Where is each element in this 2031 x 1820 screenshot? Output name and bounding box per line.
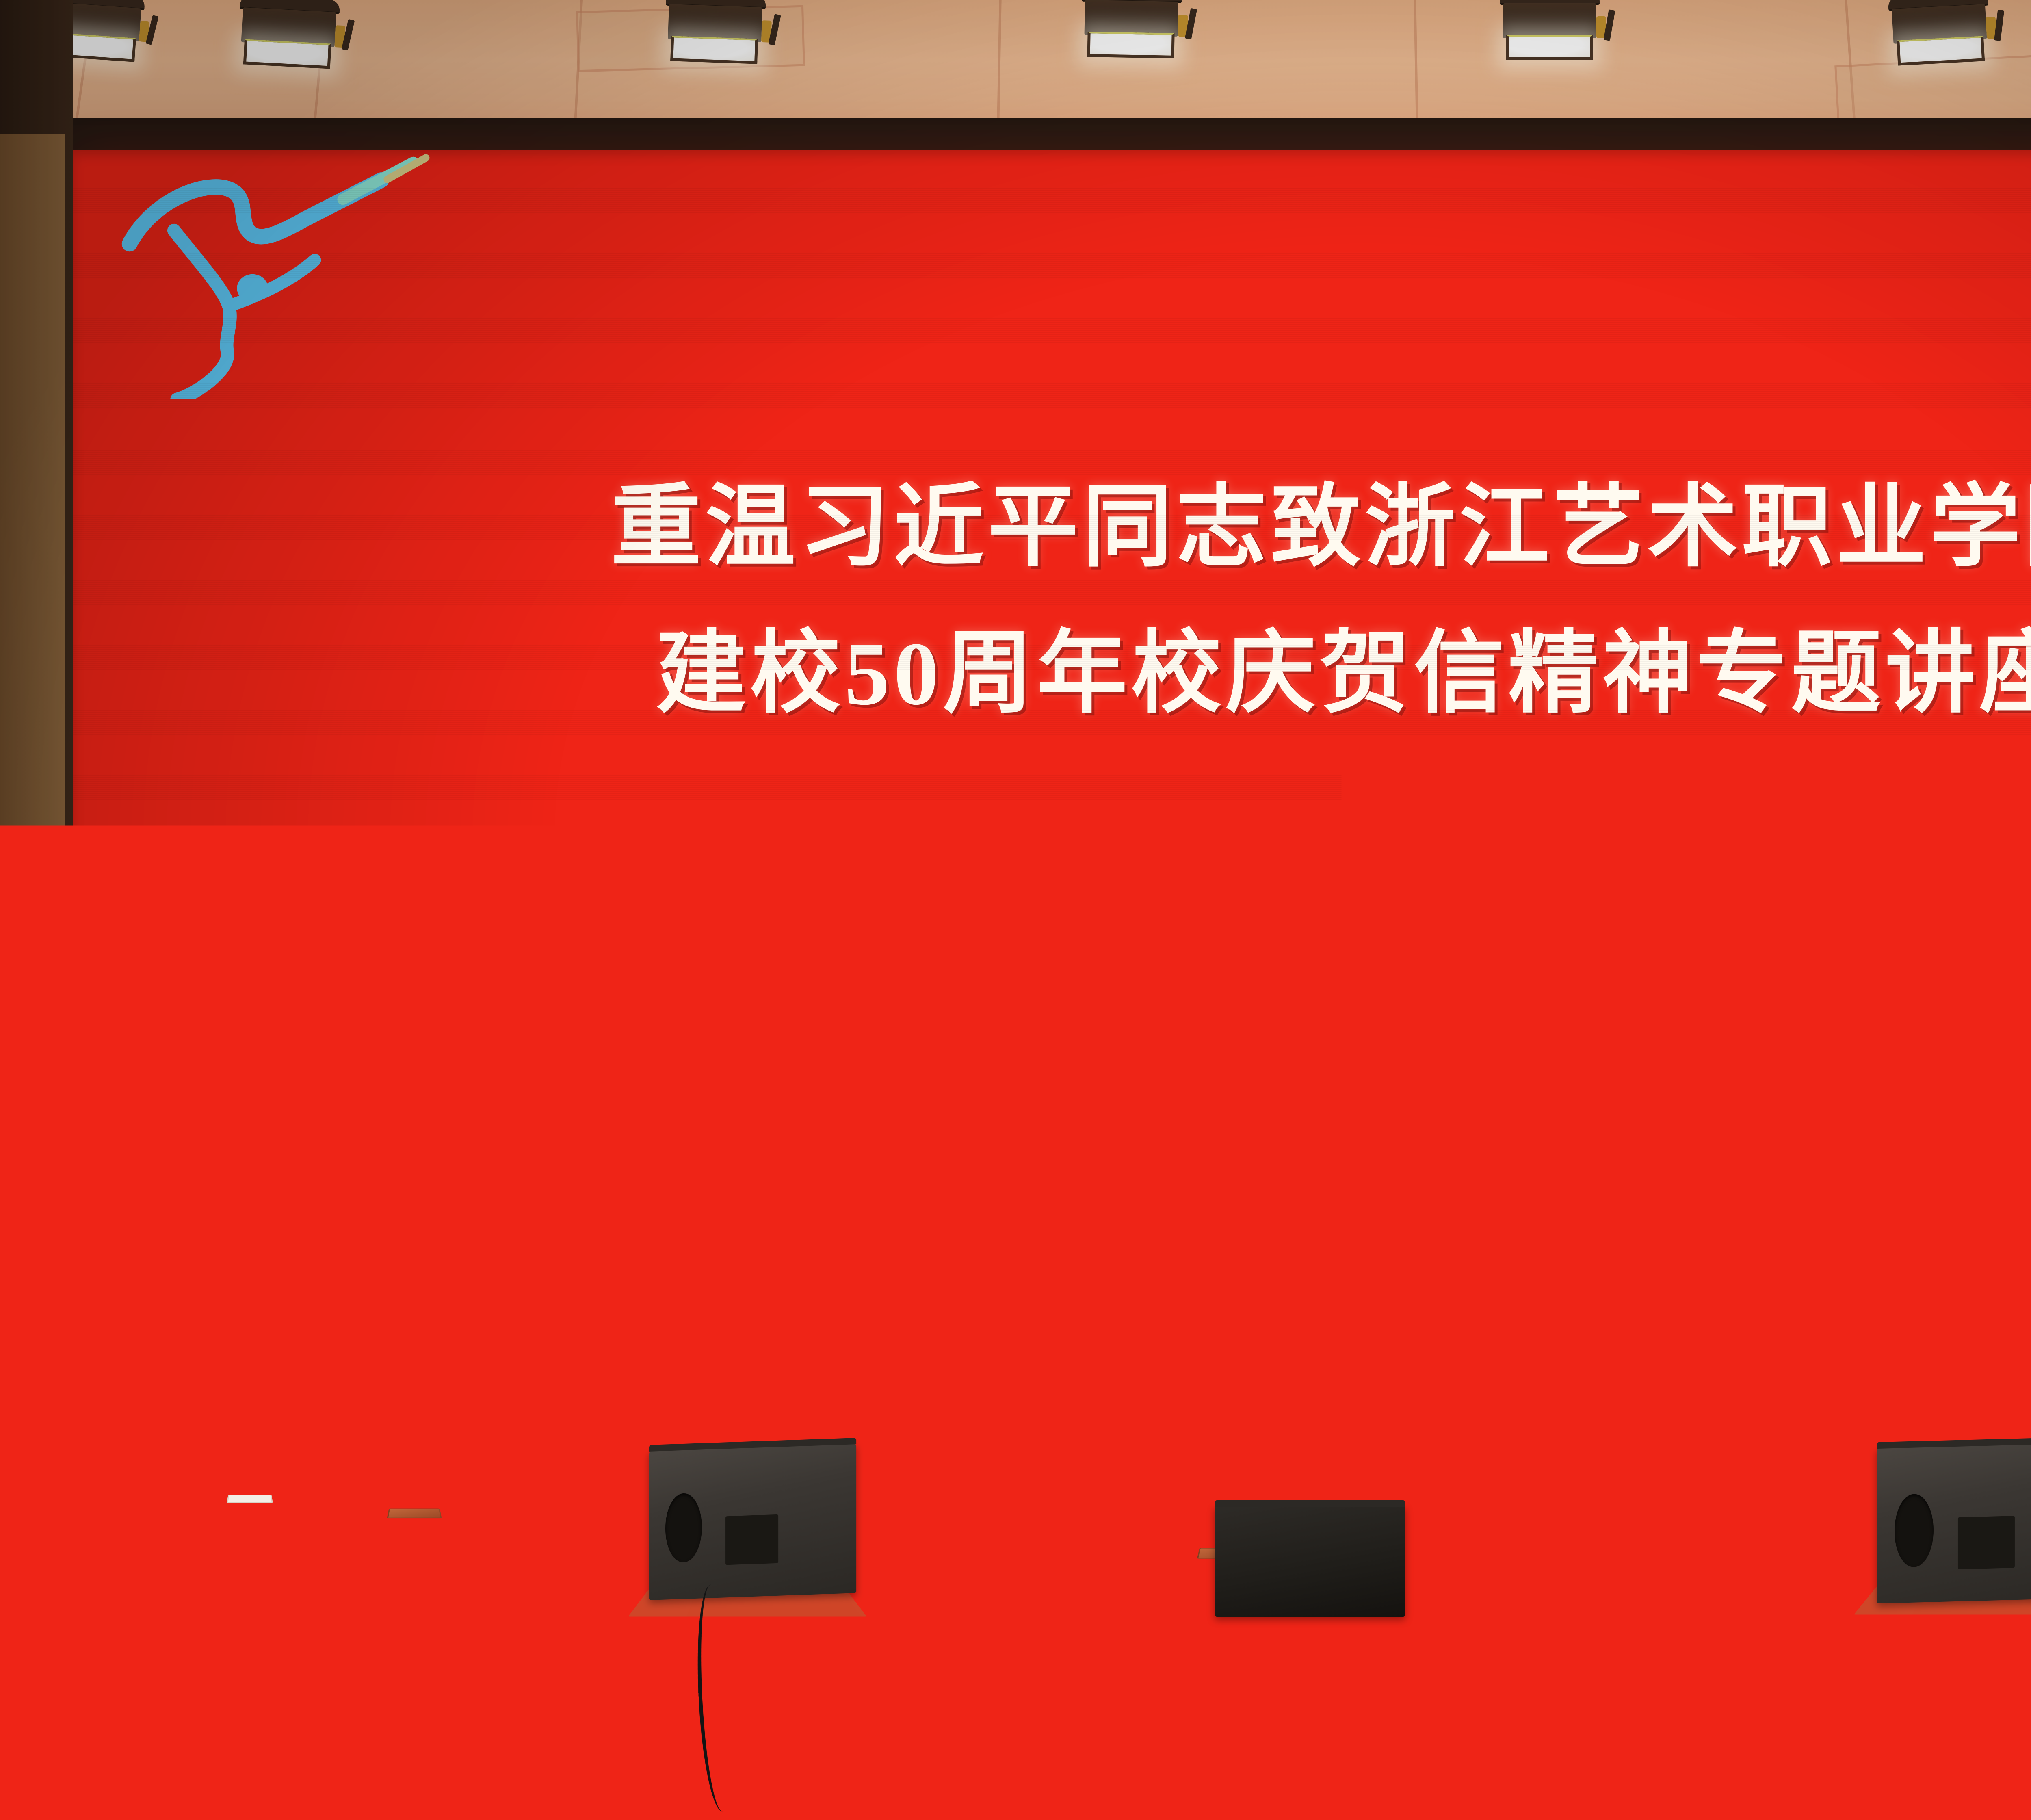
left-wall-column [0,134,65,1353]
floor-monitor-speaker [1215,1505,1405,1617]
stage-spotlight [1887,0,1992,68]
floor-monitor-speaker [1877,1441,2031,1603]
dell-brand-label: DELL [1431,1135,1466,1149]
floor-outlet-box [227,1495,273,1503]
floor-socket-plate [387,1509,442,1519]
lecture-title-line-2: 建校50周年校庆贺信精神专题讲座 [73,629,2031,719]
lecture-title-line-1: 重温习近平同志致浙江艺术职业学院 [73,483,2031,573]
laptop-bag [1735,1156,1845,1225]
dell-laptop-lid[interactable]: DELL [1374,1085,1523,1195]
stage-edge [0,1595,2031,1616]
microphone-base-right [1641,1178,1694,1205]
tea-cup-right [1689,1160,1724,1218]
stage-spotlight [1499,0,1600,62]
lenovo-laptop-lid[interactable]: Lenovo [1528,1104,1651,1193]
floor-monitor-speaker [0,1487,106,1621]
nameplate-org-left: 浙江艺术职业学院 [1083,1185,1167,1193]
microphone-head-right [1642,1038,1651,1055]
stage-spotlight [663,0,767,66]
auditorium-scene: 重温习近平同志致浙江艺术职业学院 建校50周年校庆贺信精神专题讲座 2025年1… [0,0,2031,1820]
event-date: 2025年10月21日 [73,869,2031,957]
stage-spotlight [236,0,341,71]
nameplate-name-left: 薛 亮 [1083,1195,1167,1221]
lenovo-brand-label: Lenovo [1575,1146,1604,1155]
paper-card-left [1170,1215,1195,1233]
school-dancer-logo-icon [118,149,435,399]
microphone-head-left [1078,1090,1087,1106]
cable [1024,1202,1060,1414]
stage-spotlight [1080,0,1182,61]
nameplate-left: 浙江艺术职业学院 薛 亮 [1083,1181,1168,1233]
floor-monitor-speaker [649,1443,856,1600]
stage-front-panel [0,1615,2031,1820]
dell-laptop-base[interactable] [1366,1194,1531,1207]
